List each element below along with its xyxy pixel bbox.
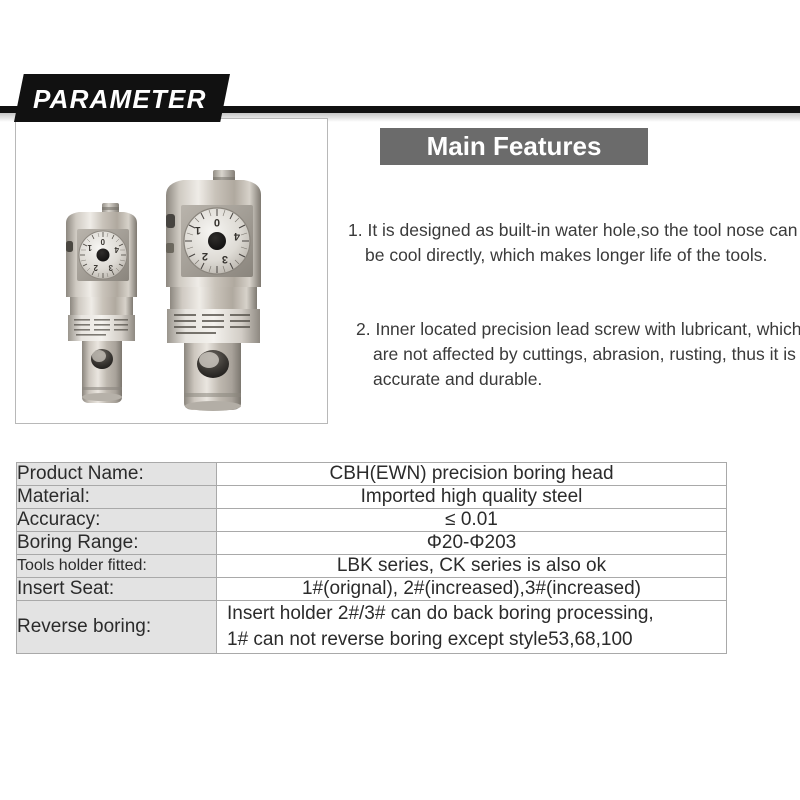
spec-value-boring-range: Φ20-Φ203 xyxy=(217,532,727,555)
spec-label-insert-seat: Insert Seat: xyxy=(17,578,217,601)
svg-text:0: 0 xyxy=(214,216,220,228)
svg-text:4: 4 xyxy=(114,245,119,254)
svg-text:3: 3 xyxy=(108,263,113,272)
spec-value-reverse-boring-line-1: Insert holder 2#/3# can do back boring p… xyxy=(227,601,726,627)
features-heading-label: Main Features xyxy=(380,128,648,165)
table-row: Boring Range: Φ20-Φ203 xyxy=(17,532,727,555)
spec-label-product-name: Product Name: xyxy=(17,463,217,486)
spec-value-insert-seat: 1#(orignal), 2#(increased),3#(increased) xyxy=(217,578,727,601)
svg-text:4: 4 xyxy=(233,230,240,242)
table-row: Product Name: CBH(EWN) precision boring … xyxy=(17,463,727,486)
product-photo: 0 1 2 3 4 xyxy=(15,118,328,424)
spec-value-material: Imported high quality steel xyxy=(217,486,727,509)
table-row: Material: Imported high quality steel xyxy=(17,486,727,509)
svg-text:2: 2 xyxy=(93,263,98,272)
svg-text:3: 3 xyxy=(222,253,228,265)
page-title: PARAMETER xyxy=(33,84,207,115)
spec-label-boring-range: Boring Range: xyxy=(17,532,217,555)
table-row: Insert Seat: 1#(orignal), 2#(increased),… xyxy=(17,578,727,601)
svg-text:2: 2 xyxy=(202,250,208,262)
spec-value-accuracy: ≤ 0.01 xyxy=(217,509,727,532)
spec-value-tools-holder-fitted: LBK series, CK series is also ok xyxy=(217,555,727,578)
table-row: Reverse boring: Insert holder 2#/3# can … xyxy=(17,601,727,654)
table-row: Accuracy: ≤ 0.01 xyxy=(17,509,727,532)
page-header: PARAMETER xyxy=(0,36,800,94)
svg-text:1: 1 xyxy=(195,224,201,236)
spec-label-accuracy: Accuracy: xyxy=(17,509,217,532)
spec-label-tools-holder-fitted: Tools holder fitted: xyxy=(17,555,217,578)
spec-label-material: Material: xyxy=(17,486,217,509)
svg-text:1: 1 xyxy=(87,243,92,252)
specification-table: Product Name: CBH(EWN) precision boring … xyxy=(16,462,727,654)
table-row: Tools holder fitted: LBK series, CK seri… xyxy=(17,555,727,578)
spec-value-product-name: CBH(EWN) precision boring head xyxy=(217,463,727,486)
boring-heads-illustration: 0 1 2 3 4 xyxy=(16,119,327,423)
svg-text:0: 0 xyxy=(100,237,105,246)
feature-item-2: 2. Inner located precision lead screw wi… xyxy=(356,317,800,392)
spec-label-reverse-boring: Reverse boring: xyxy=(17,601,217,654)
spec-value-reverse-boring-line-2: 1# can not reverse boring except style53… xyxy=(227,627,726,653)
features-heading: Main Features xyxy=(380,128,648,165)
spec-value-reverse-boring: Insert holder 2#/3# can do back boring p… xyxy=(217,601,727,654)
feature-item-1: 1. It is designed as built-in water hole… xyxy=(348,218,800,268)
